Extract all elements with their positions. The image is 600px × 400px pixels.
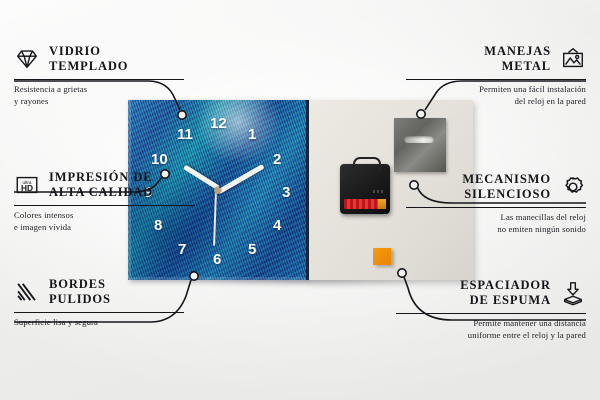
ultra-hd-icon: ultra HD [14,172,40,198]
gear-icon [560,174,586,200]
clock-number-2: 2 [273,152,281,167]
clock-center-pin [214,187,221,194]
feature-vidrio-templado[interactable]: VIDRIO TEMPLADO Resistencia a grietas y … [14,44,184,107]
feature-header: ultra HD IMPRESIÓN DE ALTA CALIDAD [14,170,194,200]
feature-manejas-metal[interactable]: MANEJAS METAL Permiten una fácil instala… [406,44,586,107]
feature-title: MECANISMO SILENCIOSO [462,172,551,202]
picture-frame-hanger-icon [560,46,586,72]
feature-desc-line2: del reloj en la pared [406,96,586,108]
arrow-down-layers-icon [560,280,586,306]
feature-divider [14,79,184,81]
feature-title: VIDRIO TEMPLADO [49,44,128,74]
feature-mecanismo-silencioso[interactable]: MECANISMO SILENCIOSO Las manecillas del … [406,172,586,235]
feature-desc-line1: Colores intensos [14,210,194,222]
foam-spacer [373,248,391,265]
feature-header: ESPACIADOR DE ESPUMA [396,278,586,308]
metal-hanger-bracket [394,118,446,172]
feature-desc-line1: Superficie lisa y segura [14,317,184,329]
feature-desc-line2: e imagen vívida [14,222,194,234]
clock-number-10: 10 [151,152,168,167]
feature-desc-line2: no emiten ningún sonido [406,224,586,236]
feature-desc-line2: uniforme entre el reloj y la pared [396,330,586,342]
feature-divider [14,312,184,314]
feature-desc-line1: Resistencia a grietas [14,84,184,96]
feature-divider [406,207,586,209]
feature-header: MANEJAS METAL [406,44,586,74]
feature-header: MECANISMO SILENCIOSO [406,172,586,202]
feature-title: IMPRESIÓN DE ALTA CALIDAD [49,170,153,200]
feature-title: ESPACIADOR DE ESPUMA [460,278,551,308]
feature-desc-line1: Permiten una fácil instalación [406,84,586,96]
clock-mechanism [340,164,390,214]
svg-text:HD: HD [21,183,33,193]
diamond-icon [14,46,40,72]
mechanism-battery-chip [378,199,386,209]
clock-number-1: 1 [248,127,256,142]
clock-number-12: 12 [210,116,227,131]
feature-header: BORDES PULIDOS [14,277,184,307]
feature-title: BORDES PULIDOS [49,277,111,307]
mechanism-hanging-loop [353,157,381,171]
feature-desc-line1: Permite mantener una distancia [396,318,586,330]
feature-desc-line1: Las manecillas del reloj [406,212,586,224]
feature-header: VIDRIO TEMPLADO [14,44,184,74]
feature-espaciador-de-espuma[interactable]: ESPACIADOR DE ESPUMA Permite mantener un… [396,278,586,341]
feature-title: MANEJAS METAL [484,44,551,74]
feature-divider [14,205,194,207]
mechanism-detail [373,190,385,193]
feature-desc-line2: y rayones [14,96,184,108]
clock-number-11: 11 [177,127,193,142]
feature-divider [406,79,586,81]
feature-bordes-pulidos[interactable]: BORDES PULIDOS Superficie lisa y segura [14,277,184,329]
feature-impresion-alta-calidad[interactable]: ultra HD IMPRESIÓN DE ALTA CALIDAD Color… [14,170,194,233]
feature-divider [396,313,586,315]
clock-number-4: 4 [273,218,281,233]
clock-number-7: 7 [178,242,186,257]
diagonal-lines-icon [14,279,40,305]
clock-number-3: 3 [282,185,290,200]
clock-number-5: 5 [248,242,256,257]
hanger-slot [404,136,434,143]
clock-number-6: 6 [213,252,221,267]
